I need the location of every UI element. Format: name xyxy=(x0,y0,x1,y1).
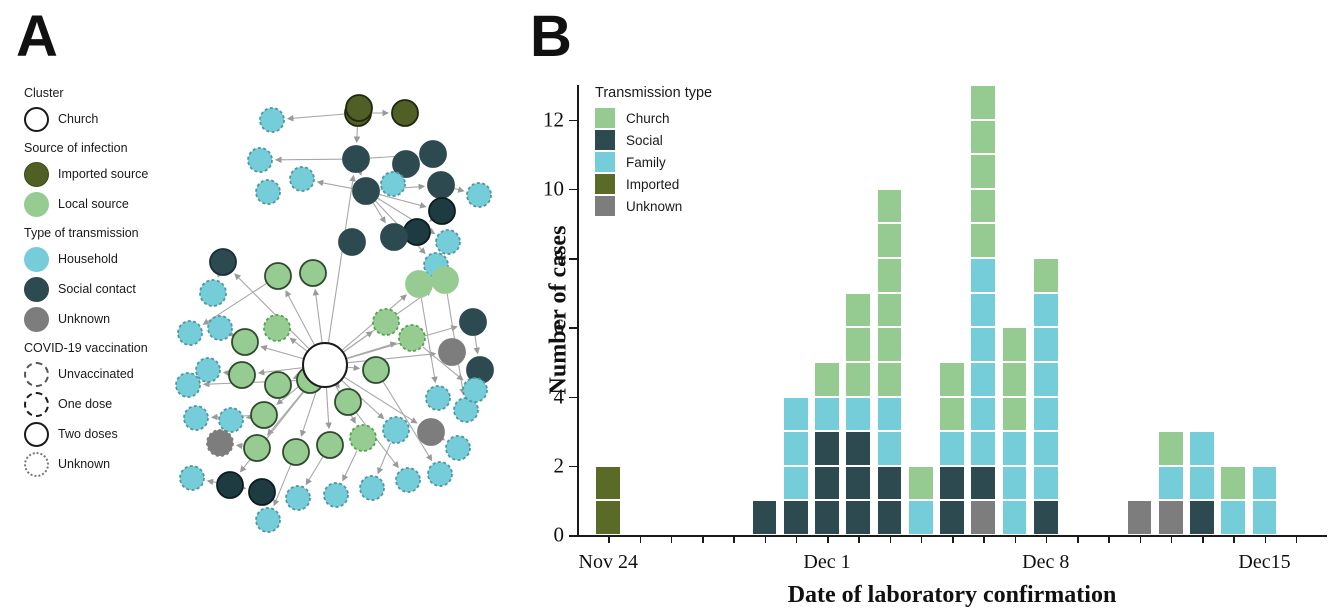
network-edge xyxy=(344,332,372,352)
network-node xyxy=(363,357,389,383)
bar-segment xyxy=(814,431,840,466)
bar-stack xyxy=(1033,258,1059,535)
legend-item-label: Unknown xyxy=(58,312,110,326)
network-node xyxy=(264,315,290,341)
bar-segment xyxy=(877,362,903,397)
bar-segment xyxy=(970,258,996,293)
legend-item-label: Unvaccinated xyxy=(58,367,134,381)
network-node xyxy=(467,183,491,207)
network-node xyxy=(219,408,243,432)
legend-node-icon xyxy=(24,392,49,417)
network-node xyxy=(178,321,202,345)
network-node xyxy=(196,358,220,382)
x-axis-tick xyxy=(1046,535,1048,543)
bar-stack xyxy=(939,362,965,535)
panel-a-label: A xyxy=(16,8,58,66)
bar-segment xyxy=(783,466,809,501)
bar-segment xyxy=(970,500,996,535)
bar-segment xyxy=(1252,500,1278,535)
network-node xyxy=(229,362,255,388)
legend-item-label: Two doses xyxy=(58,427,118,441)
network-node xyxy=(324,483,348,507)
bar-segment xyxy=(595,466,621,501)
x-axis-tick xyxy=(921,535,923,543)
bar-segment xyxy=(595,500,621,535)
network-hub-node xyxy=(303,343,347,387)
network-node xyxy=(265,372,291,398)
bar-segment xyxy=(939,500,965,535)
legend-node-icon xyxy=(24,107,49,132)
legend-item-label: Imported source xyxy=(58,167,148,181)
bar-segment xyxy=(1033,293,1059,328)
network-edge xyxy=(315,290,322,342)
network-node xyxy=(176,373,200,397)
network-node xyxy=(420,141,446,167)
bar-segment xyxy=(970,223,996,258)
transmission-network-diagram xyxy=(150,80,530,550)
network-node xyxy=(399,325,425,351)
x-axis-tick xyxy=(608,535,610,543)
legend-node-icon xyxy=(24,277,49,302)
x-axis-tick xyxy=(1140,535,1142,543)
x-axis-tick xyxy=(858,535,860,543)
network-node xyxy=(300,260,326,286)
bar-stack xyxy=(783,397,809,535)
bar-segment xyxy=(877,189,903,224)
legend-node-icon xyxy=(24,362,49,387)
bar-stack xyxy=(877,189,903,535)
bar-segment xyxy=(783,397,809,432)
bar-segment xyxy=(908,500,934,535)
network-node xyxy=(463,378,487,402)
bar-segment xyxy=(970,85,996,120)
network-node xyxy=(346,95,372,121)
network-node xyxy=(184,406,208,430)
legend-node-icon xyxy=(24,422,49,447)
network-node xyxy=(428,172,454,198)
y-axis-tick-label: 8 xyxy=(554,246,565,271)
network-edge xyxy=(373,203,385,223)
y-axis-tick xyxy=(569,120,577,122)
x-axis-tick-label: Dec 1 xyxy=(803,551,850,574)
network-node xyxy=(373,309,399,335)
bar-segment xyxy=(814,466,840,501)
bar-segment xyxy=(1033,500,1059,535)
network-node xyxy=(317,432,343,458)
bar-segment xyxy=(1002,466,1028,501)
network-edge xyxy=(348,367,359,368)
legend-item-label: Church xyxy=(626,111,670,126)
transmission-type-legend: Transmission type ChurchSocialFamilyImpo… xyxy=(595,85,770,217)
bar-segment xyxy=(877,327,903,362)
network-node xyxy=(460,309,486,335)
legend-item-label: One dose xyxy=(58,397,112,411)
bar-segment xyxy=(970,154,996,189)
bar-segment xyxy=(783,500,809,535)
bar-segment xyxy=(970,362,996,397)
network-node xyxy=(383,417,409,443)
bar-segment xyxy=(877,466,903,501)
x-axis-tick xyxy=(983,535,985,543)
bar-segment xyxy=(970,189,996,224)
bar-segment xyxy=(845,466,871,501)
network-node xyxy=(381,172,405,196)
network-node xyxy=(426,386,450,410)
network-edge xyxy=(276,159,342,160)
legend-item-label: Unknown xyxy=(58,457,110,471)
legend-node-icon xyxy=(24,307,49,332)
network-node xyxy=(251,402,277,428)
network-edge xyxy=(357,127,358,142)
network-node xyxy=(335,389,361,415)
network-edge xyxy=(326,388,329,428)
network-node xyxy=(283,439,309,465)
x-axis-tick xyxy=(640,535,642,543)
x-axis-tick xyxy=(765,535,767,543)
bar-segment xyxy=(783,431,809,466)
bar-segment xyxy=(1158,466,1184,501)
bar-segment xyxy=(1033,397,1059,432)
bar-segment xyxy=(1002,327,1028,362)
network-node xyxy=(436,230,460,254)
y-axis-tick xyxy=(569,535,577,537)
x-axis-tick xyxy=(1296,535,1298,543)
legend-node-icon xyxy=(24,192,49,217)
y-axis-tick xyxy=(569,327,577,329)
legend-item: Social xyxy=(595,129,770,151)
network-edge xyxy=(360,172,361,174)
bar-segment xyxy=(939,466,965,501)
network-edge xyxy=(455,189,464,191)
bar-segment xyxy=(1189,466,1215,501)
network-node xyxy=(217,472,243,498)
bar-stack xyxy=(1189,431,1215,535)
legend-item-label: Family xyxy=(626,155,666,170)
network-svg xyxy=(150,80,530,550)
network-node xyxy=(208,316,232,340)
y-axis-tick xyxy=(569,258,577,260)
network-node xyxy=(232,329,258,355)
network-node xyxy=(446,436,470,460)
network-node xyxy=(180,466,204,490)
network-node xyxy=(260,108,284,132)
bar-segment xyxy=(1220,466,1246,501)
x-axis-tick xyxy=(1233,535,1235,543)
bar-stack xyxy=(595,466,621,535)
x-axis-tick-label: Dec 8 xyxy=(1022,551,1069,574)
y-axis-tick-label: 10 xyxy=(543,176,564,201)
bar-segment xyxy=(1033,466,1059,501)
legend-node-icon xyxy=(24,452,49,477)
legend-item-label: Imported xyxy=(626,177,679,192)
bar-segment xyxy=(1127,500,1153,535)
x-axis-tick xyxy=(827,535,829,543)
legend-item: Family xyxy=(595,151,770,173)
network-edge xyxy=(208,481,216,483)
bar-segment xyxy=(970,293,996,328)
y-axis-tick xyxy=(569,189,577,191)
bar-segment xyxy=(877,223,903,258)
legend-color-swatch xyxy=(595,174,615,194)
bar-segment xyxy=(939,431,965,466)
network-edge xyxy=(378,443,391,473)
network-node xyxy=(207,430,233,456)
bar-segment xyxy=(752,500,778,535)
bar-segment xyxy=(1189,431,1215,466)
network-node xyxy=(406,271,432,297)
network-edge xyxy=(224,372,228,373)
y-axis-tick-label: 12 xyxy=(543,107,564,132)
bar-segment xyxy=(877,431,903,466)
x-axis-tick xyxy=(671,535,673,543)
y-axis-tick xyxy=(569,466,577,468)
legend-item-label: Church xyxy=(58,112,98,126)
legend-node-icon xyxy=(24,162,49,187)
bar-segment xyxy=(970,431,996,466)
bar-segment xyxy=(939,397,965,432)
legend-item-label: Household xyxy=(58,252,118,266)
network-node xyxy=(200,280,226,306)
bar-segment xyxy=(814,500,840,535)
network-node xyxy=(439,339,465,365)
bar-segment xyxy=(1220,500,1246,535)
bar-segment xyxy=(814,362,840,397)
x-axis-tick xyxy=(1077,535,1079,543)
legend-color-swatch xyxy=(595,152,615,172)
bar-stack xyxy=(1127,500,1153,535)
network-node xyxy=(265,263,291,289)
bar-segment xyxy=(1002,397,1028,432)
legend-color-swatch xyxy=(595,130,615,150)
x-axis-tick xyxy=(1108,535,1110,543)
bar-segment xyxy=(845,431,871,466)
network-node xyxy=(339,229,365,255)
bar-segment xyxy=(939,362,965,397)
y-axis-tick xyxy=(569,397,577,399)
network-edge xyxy=(347,343,396,358)
bar-stack xyxy=(970,85,996,535)
network-node xyxy=(432,267,458,293)
bar-segment xyxy=(845,327,871,362)
network-node xyxy=(353,178,379,204)
legend-item: Imported xyxy=(595,173,770,195)
bar-segment xyxy=(877,500,903,535)
bar-stack xyxy=(1252,466,1278,535)
bar-stack xyxy=(845,293,871,535)
y-axis-tick-label: 4 xyxy=(554,384,565,409)
bar-stack xyxy=(752,500,778,535)
x-axis-tick-label: Nov 24 xyxy=(579,551,638,574)
network-node xyxy=(418,419,444,445)
x-axis-tick xyxy=(890,535,892,543)
x-axis-tick xyxy=(1202,535,1204,543)
network-edge xyxy=(443,439,444,440)
bar-segment xyxy=(1033,258,1059,293)
network-node xyxy=(360,476,384,500)
network-node xyxy=(248,148,272,172)
network-node xyxy=(256,508,280,532)
network-node xyxy=(249,479,275,505)
network-node xyxy=(210,249,236,275)
network-node xyxy=(350,425,376,451)
bar-segment xyxy=(845,500,871,535)
x-axis-tick xyxy=(952,535,954,543)
bar-segment xyxy=(970,466,996,501)
network-edge xyxy=(237,445,243,446)
bar-segment xyxy=(877,293,903,328)
panel-b-label: B xyxy=(530,8,572,66)
bar-segment xyxy=(1033,362,1059,397)
network-edge xyxy=(430,220,431,221)
legend-color-swatch xyxy=(595,196,615,216)
bar-stack xyxy=(908,466,934,535)
bar-stack xyxy=(1220,466,1246,535)
network-node xyxy=(392,100,418,126)
bar-segment xyxy=(814,397,840,432)
network-node xyxy=(290,167,314,191)
bar-segment xyxy=(1002,362,1028,397)
network-node xyxy=(256,180,280,204)
bar-segment xyxy=(845,362,871,397)
bar-stack xyxy=(814,362,840,535)
network-edge xyxy=(288,114,344,119)
bar-segment xyxy=(970,397,996,432)
network-edge xyxy=(328,176,353,342)
x-axis-tick xyxy=(1265,535,1267,543)
x-axis-tick xyxy=(796,535,798,543)
bar-segment xyxy=(1252,466,1278,501)
bar-segment xyxy=(845,293,871,328)
network-edge xyxy=(318,182,353,188)
legend-item-label: Social xyxy=(626,133,663,148)
y-axis-line xyxy=(577,85,579,535)
bar-segment xyxy=(1033,327,1059,362)
bar-segment xyxy=(908,466,934,501)
legend-item-label: Local source xyxy=(58,197,129,211)
x-axis-tick xyxy=(1171,535,1173,543)
network-node xyxy=(396,468,420,492)
bar-segment xyxy=(1189,500,1215,535)
legend-item-label: Social contact xyxy=(58,282,136,296)
network-node xyxy=(286,486,310,510)
bar-stack xyxy=(1002,327,1028,535)
y-axis-tick-label: 0 xyxy=(554,523,565,548)
x-axis-tick xyxy=(733,535,735,543)
network-node xyxy=(343,146,369,172)
legend-item: Unknown xyxy=(595,195,770,217)
network-node xyxy=(244,435,270,461)
network-edge xyxy=(247,417,250,418)
bar-segment xyxy=(1002,500,1028,535)
y-axis-tick-label: 6 xyxy=(554,315,565,340)
bar-segment xyxy=(1033,431,1059,466)
network-node xyxy=(381,224,407,250)
network-edge xyxy=(261,347,303,359)
network-edge xyxy=(380,195,426,207)
network-edge xyxy=(286,291,314,345)
legend-title: Transmission type xyxy=(595,85,770,101)
network-edge xyxy=(306,457,322,484)
x-axis-tick xyxy=(1015,535,1017,543)
network-edge xyxy=(343,451,357,481)
network-edge xyxy=(337,385,339,388)
bar-stack xyxy=(1158,431,1184,535)
legend-item-label: Unknown xyxy=(626,199,682,214)
network-node xyxy=(428,462,452,486)
x-axis-tick xyxy=(702,535,704,543)
bar-segment xyxy=(845,397,871,432)
bar-segment xyxy=(970,327,996,362)
legend-color-swatch xyxy=(595,108,615,128)
network-node xyxy=(429,198,455,224)
legend-node-icon xyxy=(24,247,49,272)
legend-item: Church xyxy=(595,107,770,129)
bar-segment xyxy=(1002,431,1028,466)
y-axis-tick-label: 2 xyxy=(554,453,565,478)
bar-segment xyxy=(1158,431,1184,466)
bar-segment xyxy=(877,397,903,432)
bar-segment xyxy=(877,258,903,293)
bar-segment xyxy=(1158,500,1184,535)
network-edge xyxy=(475,336,478,353)
network-node xyxy=(404,219,430,245)
epidemic-curve-panel: Number of cases Date of laboratory confi… xyxy=(520,60,1333,598)
bar-segment xyxy=(970,120,996,155)
x-axis-tick-label: Dec15 xyxy=(1238,551,1290,574)
network-edge xyxy=(301,387,317,436)
x-axis-title: Date of laboratory confirmation xyxy=(788,582,1117,609)
